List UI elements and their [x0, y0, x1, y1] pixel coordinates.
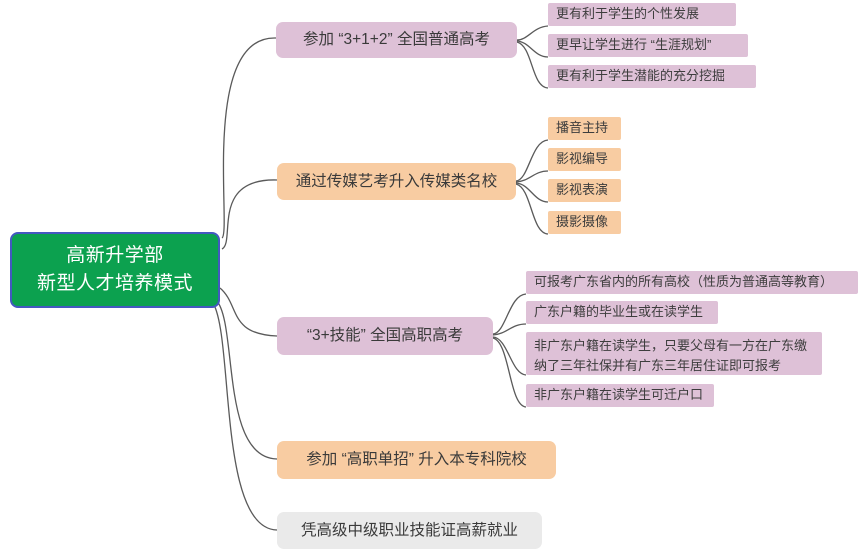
branch-node-gaokao-312[interactable]: 参加 “3+1+2” 全国普通高考	[276, 22, 517, 58]
leaf-node-personality-development[interactable]: 更有利于学生的个性发展	[548, 3, 736, 26]
leaf-node-non-guangdong-transfer-hukou[interactable]: 非广东户籍在读学生可迁户口	[526, 384, 714, 407]
leaf-node-career-planning[interactable]: 更早让学生进行 “生涯规划”	[548, 34, 748, 57]
connector-branch-3-leaf-3	[493, 337, 526, 375]
connector-branch-2-leaf-2	[516, 171, 548, 182]
connector-branch-2-leaf-1	[516, 140, 548, 181]
branch-node-skill-certificate-employment[interactable]: 凭高级中级职业技能证高薪就业	[277, 512, 542, 549]
leaf-node-broadcast-hosting[interactable]: 播音主持	[548, 117, 621, 140]
branch-node-media-arts[interactable]: 通过传媒艺考升入传媒类名校	[277, 163, 516, 200]
leaf-node-film-directing[interactable]: 影视编导	[548, 148, 621, 171]
connector-branch-1-leaf-1	[517, 26, 548, 40]
connector-branch-3-leaf-4	[493, 338, 526, 407]
connector-root-branch-3	[220, 288, 277, 336]
leaf-node-photography[interactable]: 摄影摄像	[548, 211, 621, 234]
leaf-node-film-acting[interactable]: 影视表演	[548, 179, 621, 202]
leaf-node-all-guangdong-colleges[interactable]: 可报考广东省内的所有高校（性质为普通高等教育）	[526, 271, 858, 294]
connector-branch-3-leaf-1	[493, 294, 526, 334]
connector-root-branch-4	[216, 300, 277, 459]
root-node[interactable]: 高新升学部新型人才培养模式	[10, 232, 220, 308]
connector-root-branch-5	[213, 303, 277, 530]
connector-branch-1-leaf-2	[517, 41, 548, 57]
connector-root-branch-2	[222, 180, 277, 249]
connector-branch-1-leaf-3	[517, 42, 548, 88]
connector-branch-2-leaf-3	[516, 183, 548, 202]
leaf-node-non-guangdong-social-security[interactable]: 非广东户籍在读学生，只要父母有一方在广东缴纳了三年社保并有广东三年居住证即可报考	[526, 332, 822, 375]
root-node-label: 高新升学部新型人才培养模式	[37, 242, 193, 297]
branch-node-vocational-single-recruit[interactable]: 参加 “高职单招” 升入本专科院校	[277, 441, 556, 479]
leaf-node-guangdong-hukou-students[interactable]: 广东户籍的毕业生或在读学生	[526, 301, 718, 324]
leaf-node-potential-mining[interactable]: 更有利于学生潜能的充分挖掘	[548, 65, 756, 88]
connector-root-branch-1	[222, 38, 276, 238]
connector-branch-3-leaf-2	[493, 324, 526, 335]
connector-branch-2-leaf-4	[516, 184, 548, 234]
branch-node-3-plus-skills[interactable]: “3+技能” 全国高职高考	[277, 317, 493, 355]
mindmap-canvas: 高新升学部新型人才培养模式 参加 “3+1+2” 全国普通高考 更有利于学生的个…	[0, 0, 866, 549]
